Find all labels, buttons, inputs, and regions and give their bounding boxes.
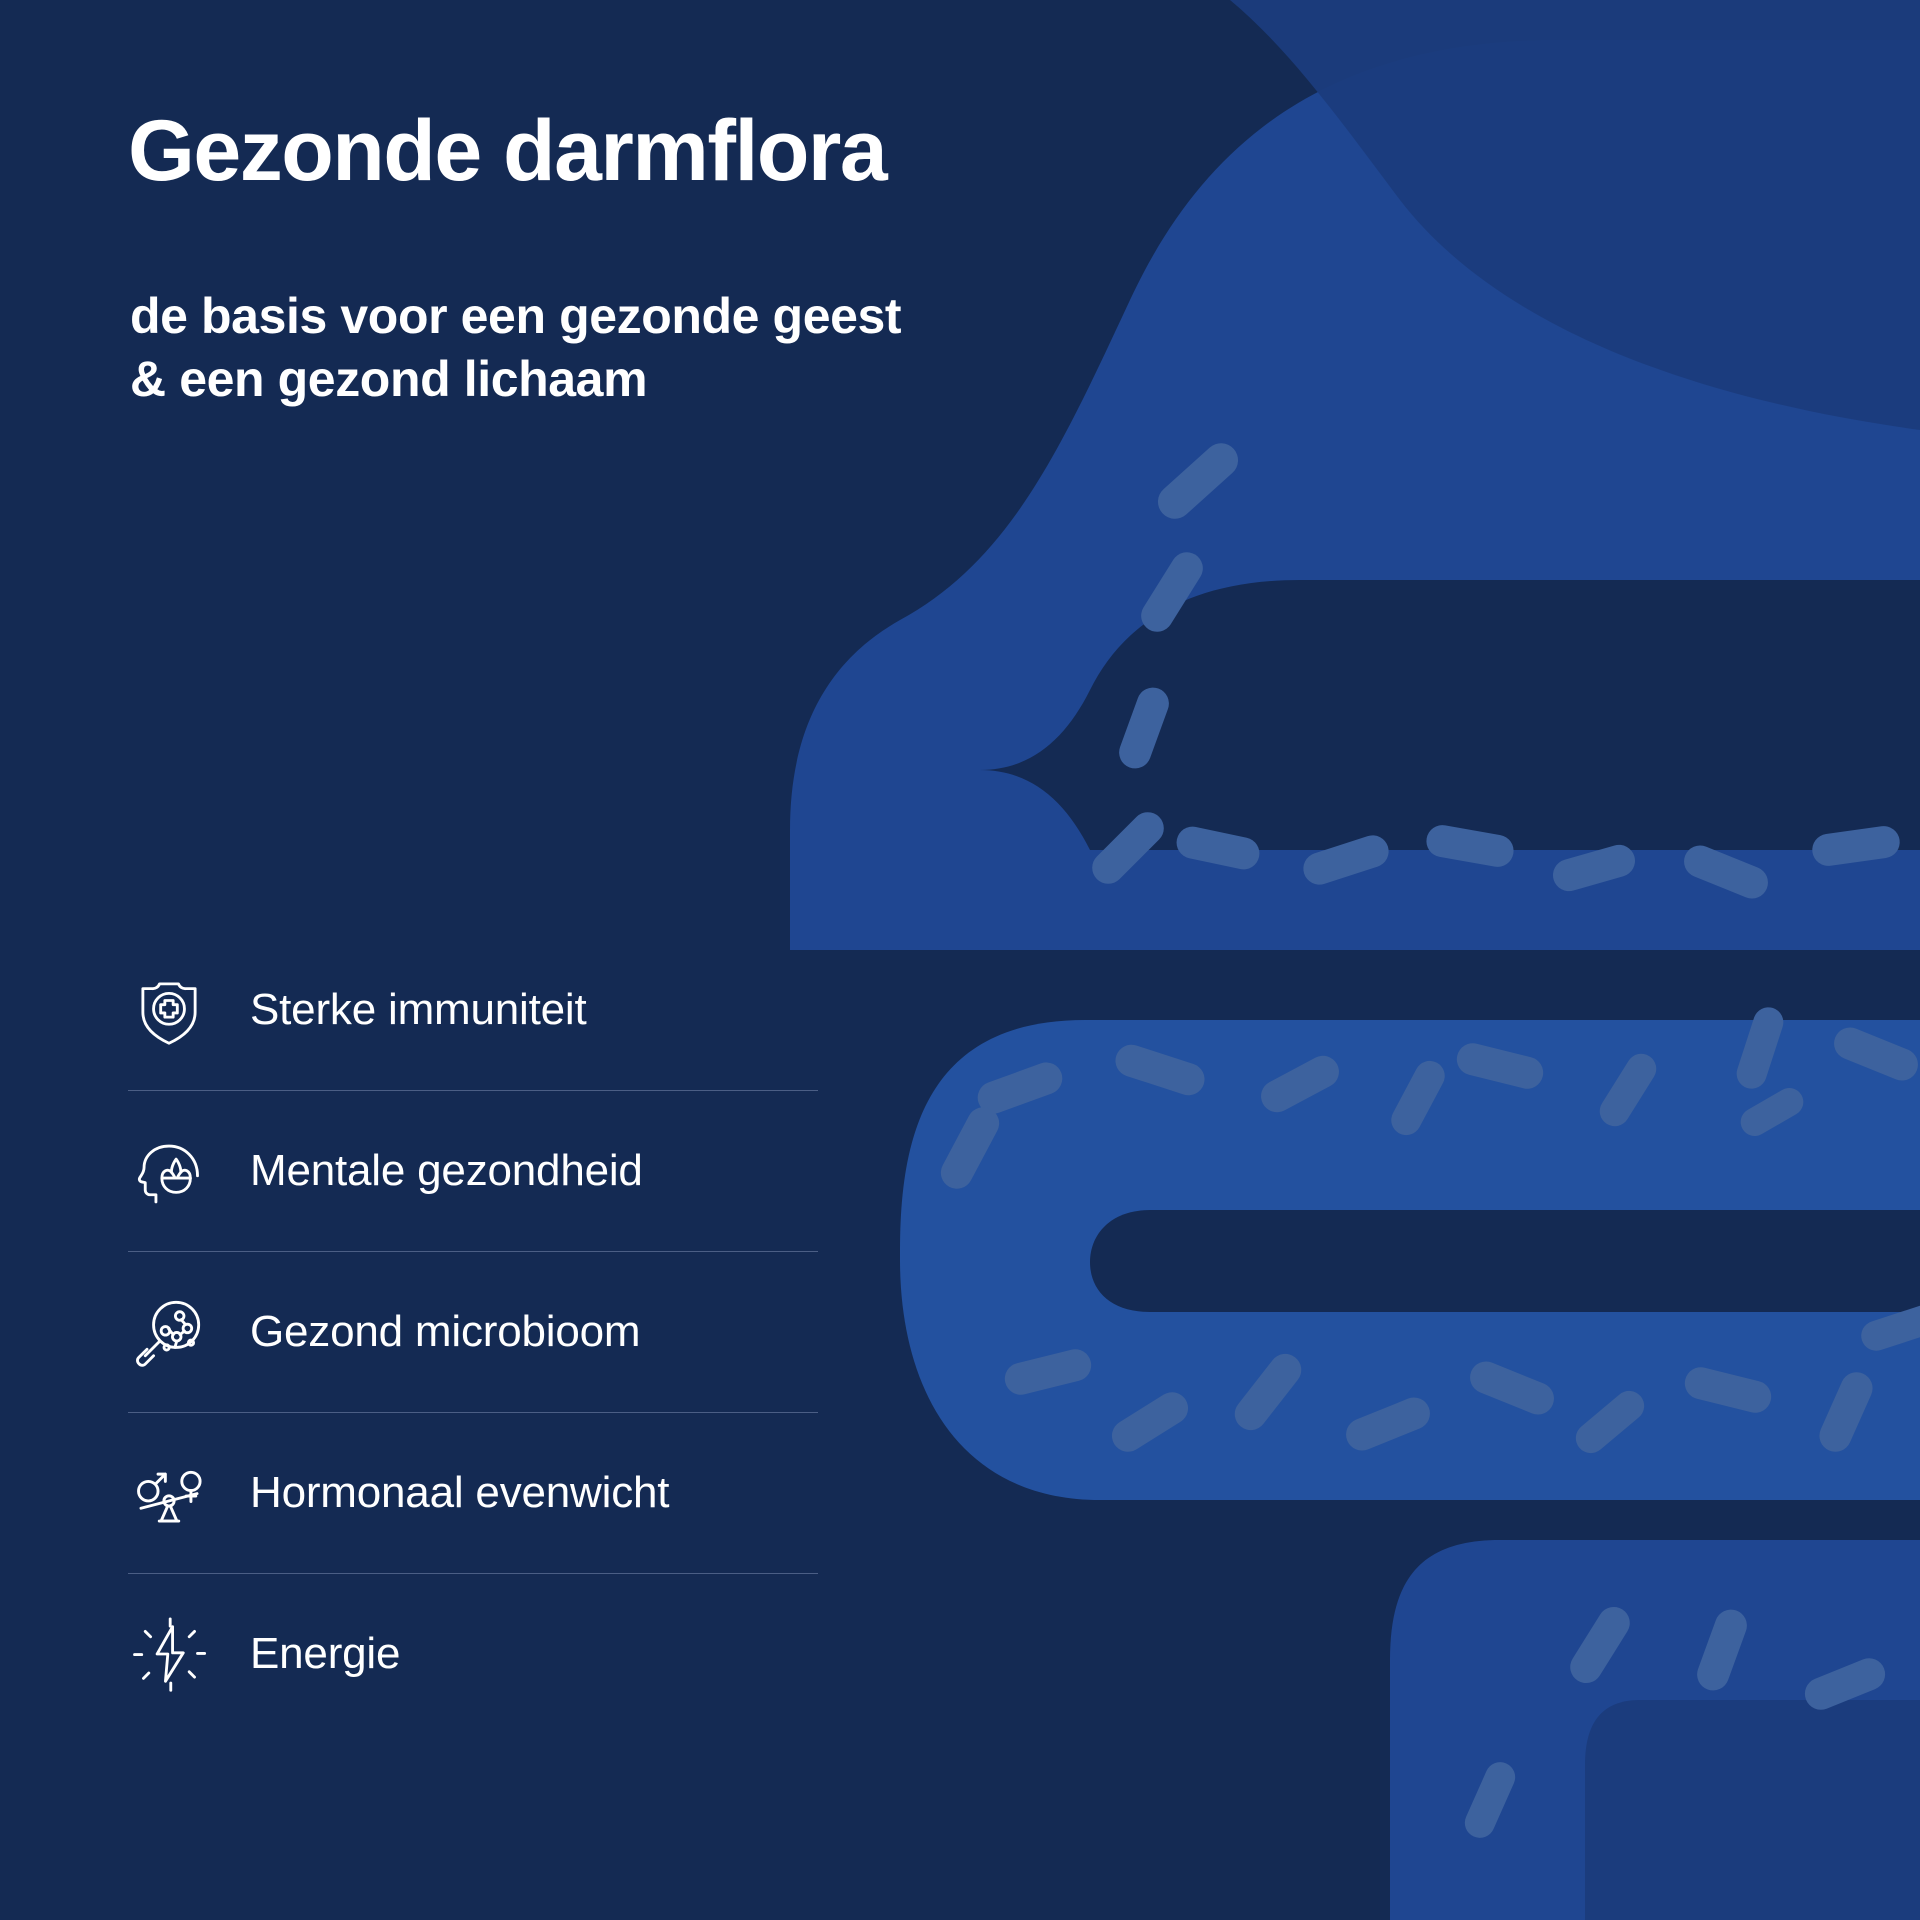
benefit-divider <box>128 1573 818 1574</box>
gender-balance-scale-icon <box>128 1452 210 1534</box>
benefit-label: Mentale gezondheid <box>250 1146 643 1196</box>
head-lotus-icon <box>128 1130 210 1212</box>
benefit-list: Sterke immuniteit Mentale gezondheid <box>128 930 818 1734</box>
benefit-label: Hormonaal evenwicht <box>250 1468 669 1518</box>
lightning-bolt-rays-icon <box>128 1613 210 1695</box>
shield-plus-icon <box>128 969 210 1051</box>
content-layer: Gezonde darmflora de basis voor een gezo… <box>0 0 1920 1920</box>
benefit-label: Sterke immuniteit <box>250 985 586 1035</box>
magnifier-microbes-icon <box>128 1291 210 1373</box>
benefit-item-immunity[interactable]: Sterke immuniteit <box>128 930 818 1090</box>
benefit-label: Gezond microbioom <box>250 1307 640 1357</box>
benefit-item-microbiome[interactable]: Gezond microbioom <box>128 1252 818 1412</box>
page-title: Gezonde darmflora <box>128 108 886 194</box>
benefit-item-energy[interactable]: Energie <box>128 1574 818 1734</box>
benefit-label: Energie <box>250 1629 400 1679</box>
benefit-item-hormonal-balance[interactable]: Hormonaal evenwicht <box>128 1413 818 1573</box>
benefit-divider <box>128 1412 818 1413</box>
poster-canvas: Gezonde darmflora de basis voor een gezo… <box>0 0 1920 1920</box>
benefit-divider <box>128 1090 818 1091</box>
benefit-divider <box>128 1251 818 1252</box>
benefit-item-mental-health[interactable]: Mentale gezondheid <box>128 1091 818 1251</box>
page-subtitle: de basis voor een gezonde geest & een ge… <box>130 285 901 410</box>
